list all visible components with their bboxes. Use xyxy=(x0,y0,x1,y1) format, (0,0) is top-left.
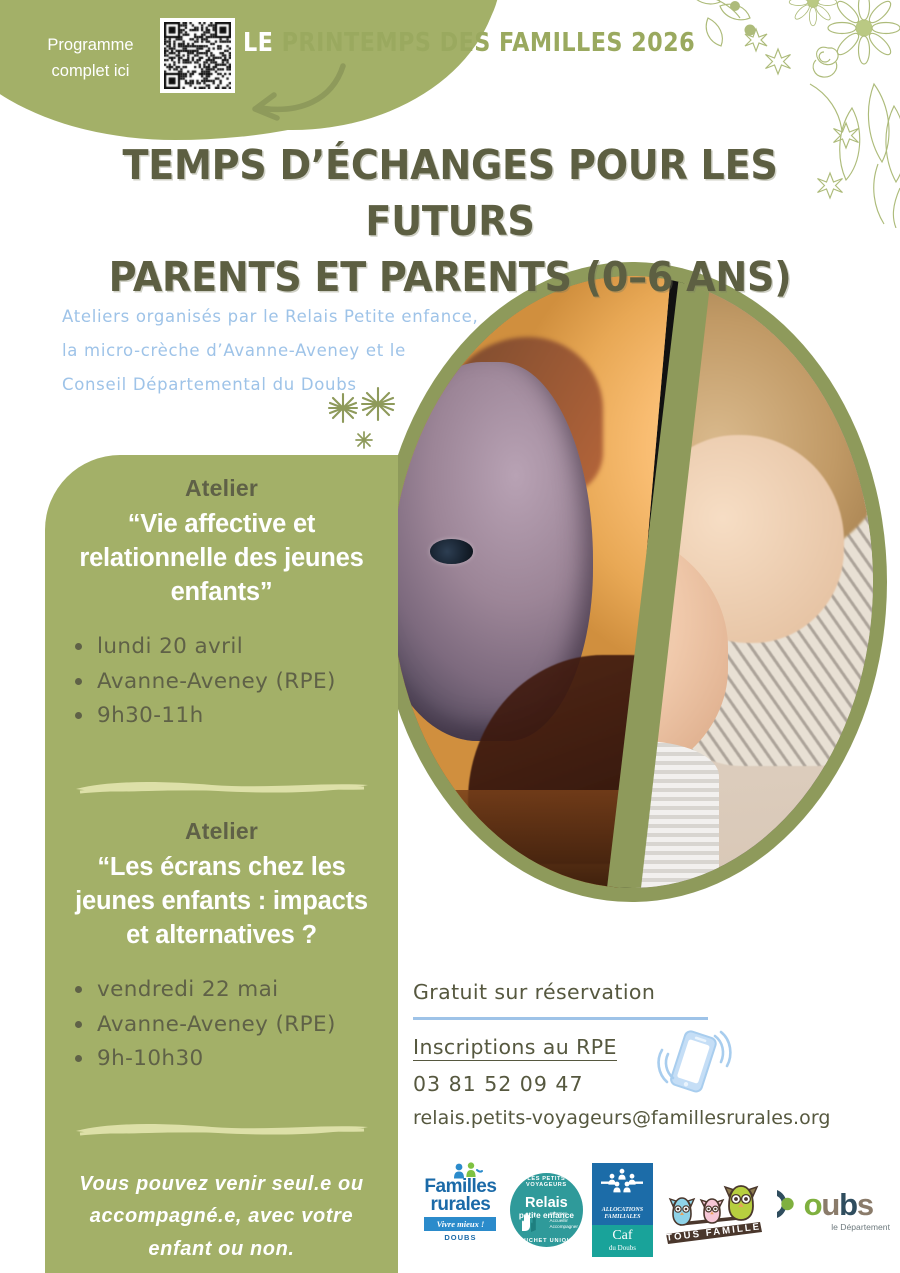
logo-fr-name2: rurales xyxy=(431,1194,491,1215)
logo-relais-bottom-arc: GUICHET UNIQUE xyxy=(510,1238,583,1244)
free-booking-note: Gratuit sur réservation xyxy=(413,980,883,1004)
list-item: Avanne-Aveney (RPE) xyxy=(71,665,398,700)
workshop-1-kicker: Atelier xyxy=(45,475,398,502)
workshop-2-title-line3: et alternatives ? xyxy=(45,919,398,953)
logo-relais-pillars: InformerAccueillirAccompagner xyxy=(550,1211,578,1230)
child-eye xyxy=(430,539,473,563)
logo-caf-label1: ALLOCATIONS xyxy=(595,1207,650,1214)
list-item: vendredi 22 mai xyxy=(71,973,398,1008)
organisers-note-line2: la micro-crèche d’Avanne-Aveney et le xyxy=(62,334,532,368)
logo-doubs-tagline: le Département xyxy=(774,1222,890,1232)
list-item: 9h-10h30 xyxy=(71,1042,398,1077)
doubs-letter-b: b xyxy=(839,1187,857,1222)
logo-caf-top: ALLOCATIONS FAMILIALES xyxy=(592,1163,653,1225)
doubs-letter-u: u xyxy=(821,1187,839,1222)
workshop-2-details: vendredi 22 mai Avanne-Aveney (RPE) 9h-1… xyxy=(71,973,398,1077)
caf-family-figures-icon xyxy=(599,1168,645,1200)
list-item: Avanne-Aveney (RPE) xyxy=(71,1008,398,1043)
logo-fr-tagline: Vivre mieux ! xyxy=(424,1217,496,1231)
attendance-note: Vous pouvez venir seul.e ou accompagné.e… xyxy=(45,1168,398,1265)
divider xyxy=(413,1017,708,1020)
logo-relais-petite-enfance: LES PETITS VOYAGEURS Relais petite enfan… xyxy=(510,1173,583,1247)
phone-number[interactable]: 03 81 52 09 47 xyxy=(413,1072,883,1096)
qr-code[interactable] xyxy=(160,18,235,93)
logo-relais-top-arc: LES PETITS VOYAGEURS xyxy=(510,1176,583,1188)
logo-relais-main: Relais xyxy=(525,1196,568,1211)
organisers-note-line1: Ateliers organisés par le Relais Petite … xyxy=(62,300,532,334)
brand-title-white: LE xyxy=(243,28,273,58)
brand-title-green: PRINTEMPS DES FAMILLES 2026 xyxy=(282,28,696,58)
registration-heading: Inscriptions au RPE xyxy=(413,1035,617,1061)
brush-stroke-divider xyxy=(72,776,372,798)
workshop-card-2: Atelier “Les écrans chez les jeunes enfa… xyxy=(45,818,398,1077)
brush-stroke-divider xyxy=(72,1118,372,1140)
list-item: 9h30-11h xyxy=(71,699,398,734)
attendance-note-line1: Vous pouvez venir seul.e ou xyxy=(45,1168,398,1200)
logo-caf-du-doubs: ALLOCATIONS FAMILIALES Caf du Doubs xyxy=(592,1163,653,1257)
workshop-2-kicker: Atelier xyxy=(45,818,398,845)
familles-rurales-figures-icon xyxy=(451,1162,483,1188)
attendance-note-line2: accompagné.e, avec votre xyxy=(45,1200,398,1232)
page-title: TEMPS D’ÉCHANGES POUR LES FUTURS PARENTS… xyxy=(32,138,869,305)
mobile-phone-ringing-icon xyxy=(655,1022,735,1104)
logo-caf-bottom: Caf du Doubs xyxy=(592,1225,653,1257)
event-brand-title: LE PRINTEMPS DES FAMILLES 2026 xyxy=(243,28,695,58)
workshop-2-title-line2: jeunes enfants : impacts xyxy=(45,885,398,919)
helping-hands-icon xyxy=(518,1211,540,1233)
logo-caf-dept: du Doubs xyxy=(595,1244,650,1252)
workshop-card-1: Atelier “Vie affective et relationnelle … xyxy=(45,475,398,734)
organisers-note-line3: Conseil Départemental du Doubs xyxy=(62,368,532,402)
doubs-letter-o: o xyxy=(804,1187,822,1222)
partner-logos: Familles rurales Vivre mieux ! DOUBS LES… xyxy=(420,1160,890,1260)
workshop-2-title-line1: “Les écrans chez les xyxy=(45,851,398,885)
logo-caf-label2: FAMILIALES xyxy=(595,1214,650,1221)
programme-label-line2: complet ici xyxy=(28,59,153,85)
doubs-letter-s: s xyxy=(857,1187,873,1222)
contact-block: Gratuit sur réservation Inscriptions au … xyxy=(413,980,883,1129)
email-address[interactable]: relais.petits-voyageurs@famillesrurales.… xyxy=(413,1107,883,1129)
logo-tous-famille: TOUS FAMILLE xyxy=(662,1172,765,1248)
list-item: lundi 20 avril xyxy=(71,630,398,665)
three-owls-icon: TOUS FAMILLE xyxy=(662,1172,766,1248)
workshop-2-title: “Les écrans chez les jeunes enfants : im… xyxy=(45,851,398,953)
logo-doubs-departement: oubs le Département xyxy=(774,1188,890,1232)
programme-label-line1: Programme xyxy=(28,33,153,59)
programme-label: Programme complet ici xyxy=(28,33,153,84)
workshop-1-title-line3: enfants” xyxy=(45,576,398,610)
workshop-1-title: “Vie affective et relationnelle des jeun… xyxy=(45,508,398,610)
workshop-1-details: lundi 20 avril Avanne-Aveney (RPE) 9h30-… xyxy=(71,630,398,734)
sparkle-star-icon xyxy=(316,386,426,466)
doubs-d-mark-icon xyxy=(774,1188,804,1220)
page-title-line1: TEMPS D’ÉCHANGES POUR LES FUTURS xyxy=(122,141,777,245)
curved-arrow-icon xyxy=(240,62,350,122)
logo-familles-rurales: Familles rurales Vivre mieux ! DOUBS xyxy=(420,1178,501,1242)
workshop-1-title-line1: “Vie affective et xyxy=(45,508,398,542)
page-title-line2: PARENTS ET PARENTS (0–6 ANS) xyxy=(32,250,869,306)
workshop-1-title-line2: relationnelle des jeunes xyxy=(45,542,398,576)
logo-caf-name: Caf xyxy=(595,1229,650,1243)
attendance-note-line3: enfant ou non. xyxy=(45,1233,398,1265)
organisers-note: Ateliers organisés par le Relais Petite … xyxy=(62,300,532,401)
logo-fr-dept: DOUBS xyxy=(420,1233,501,1242)
